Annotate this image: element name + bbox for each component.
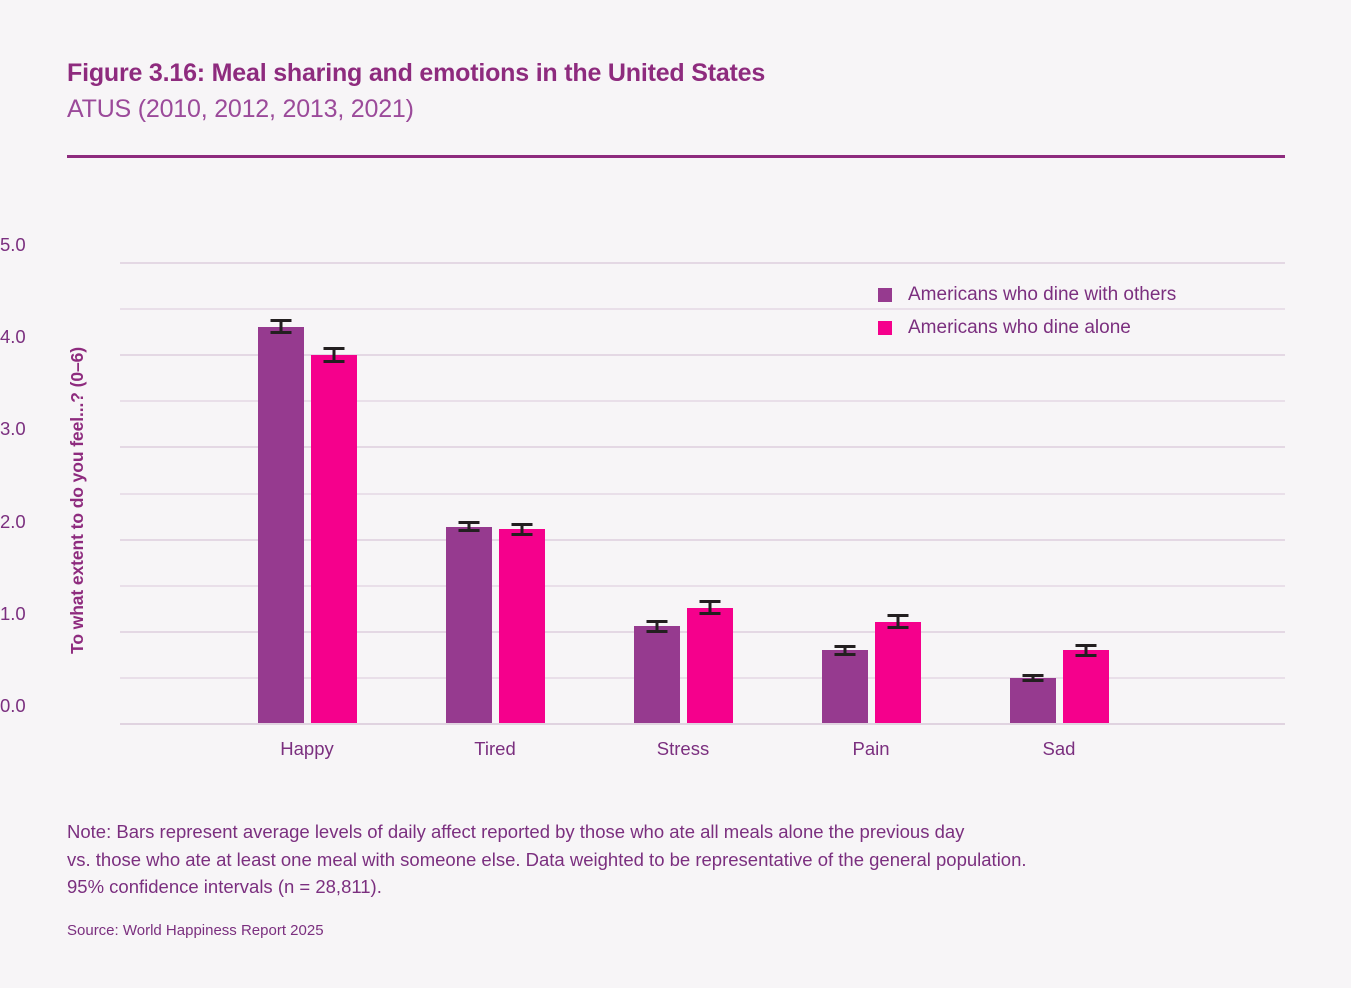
error-bar-cap	[270, 331, 291, 334]
legend-item-dine-alone[interactable]: Americans who dine alone	[878, 311, 1176, 344]
bar-stress-with-others	[634, 626, 680, 723]
bar-happy-with-others	[258, 327, 304, 723]
note-line-2: vs. those who ate at least one meal with…	[67, 846, 1287, 874]
error-bar-cap	[270, 319, 291, 322]
figure-note: Note: Bars represent average levels of d…	[67, 818, 1287, 901]
error-bar-cap	[646, 630, 667, 633]
x-axis-label-tired: Tired	[415, 738, 575, 760]
error-bar-cap	[458, 521, 479, 524]
bar-sad-with-others	[1010, 678, 1056, 723]
axis-baseline	[120, 723, 1285, 725]
error-bar-cap	[699, 600, 720, 603]
note-line-3: 95% confidence intervals (n = 28,811).	[67, 873, 1287, 901]
figure-page: Figure 3.16: Meal sharing and emotions i…	[0, 0, 1351, 988]
error-bar-cap	[887, 614, 908, 617]
chart-legend: Americans who dine with others Americans…	[878, 278, 1176, 344]
y-axis-tick-label: 5.0	[0, 234, 60, 256]
error-bar-cap	[1075, 654, 1096, 657]
bar-happy-alone	[311, 355, 357, 723]
error-bar-cap	[458, 529, 479, 532]
error-bar-cap	[511, 523, 532, 526]
error-bar-cap	[887, 626, 908, 629]
y-axis-title: To what extent to do you feel...? (0–6)	[62, 290, 92, 710]
legend-item-dine-with-others[interactable]: Americans who dine with others	[878, 278, 1176, 311]
x-axis-label-pain: Pain	[791, 738, 951, 760]
x-axis-label-happy: Happy	[227, 738, 387, 760]
bar-tired-alone	[499, 529, 545, 723]
y-axis-tick-label: 4.0	[0, 326, 60, 348]
y-axis-tick-label: 3.0	[0, 418, 60, 440]
y-axis-tick-label: 1.0	[0, 603, 60, 625]
bar-stress-alone	[687, 608, 733, 723]
legend-swatch-pink	[878, 321, 892, 335]
error-bar-cap	[1022, 679, 1043, 682]
error-bar-cap	[1022, 674, 1043, 677]
bar-sad-alone	[1063, 650, 1109, 723]
error-bar-cap	[646, 620, 667, 623]
x-axis-label-stress: Stress	[603, 738, 763, 760]
bar-pain-alone	[875, 622, 921, 723]
error-bar-cap	[834, 653, 855, 656]
error-bar-cap	[834, 645, 855, 648]
legend-label-dine-alone: Americans who dine alone	[908, 317, 1131, 339]
error-bar-cap	[1075, 644, 1096, 647]
bar-pain-with-others	[822, 650, 868, 723]
y-axis-title-text: To what extent to do you feel...? (0–6)	[67, 347, 88, 654]
error-bar-cap	[511, 533, 532, 536]
error-bar-cap	[699, 612, 720, 615]
y-axis-tick-label: 2.0	[0, 511, 60, 533]
error-bar-cap	[323, 360, 344, 363]
error-bar-cap	[323, 347, 344, 350]
y-axis-tick-label: 0.0	[0, 695, 60, 717]
legend-swatch-purple	[878, 288, 892, 302]
figure-source: Source: World Happiness Report 2025	[67, 922, 324, 939]
note-line-1: Note: Bars represent average levels of d…	[67, 818, 1287, 846]
bar-tired-with-others	[446, 527, 492, 723]
x-axis-label-sad: Sad	[979, 738, 1139, 760]
legend-label-dine-with-others: Americans who dine with others	[908, 284, 1176, 306]
